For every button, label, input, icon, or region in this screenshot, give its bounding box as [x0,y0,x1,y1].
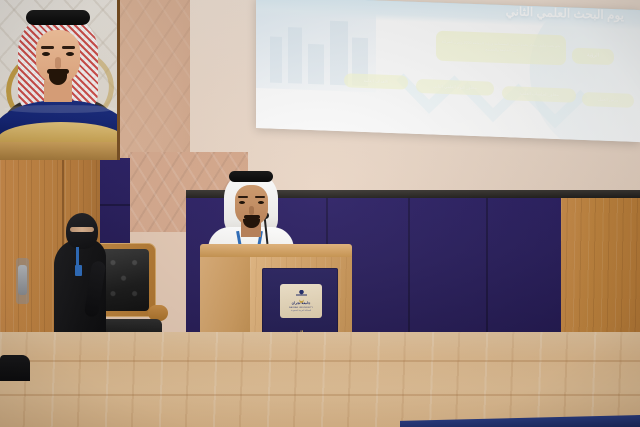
eye [239,201,245,204]
portrait-eye [42,52,50,56]
portrait-nose [55,57,61,69]
slide-surface: يوم البحث العلمي الثاني نحو بحث علمي مبت… [256,0,640,142]
slide-side-callout: الرؤية [572,48,614,66]
podium-lectern-top [200,244,352,257]
portrait-eyebrow [62,46,75,49]
portrait-eyebrow [41,46,54,49]
eyebrow [255,196,265,198]
name-badge [75,265,82,276]
nose [249,206,254,215]
panel-seam [96,204,130,206]
banner-gloss [4,105,116,113]
portrait-base-shelf [0,142,120,160]
floor-reflection [0,332,640,358]
slide-building [288,27,302,84]
logo-subtitle: المملكة العربية السعودية [291,310,311,312]
portrait-iqal [26,10,90,25]
portrait-banner [0,100,120,142]
eyes [70,227,94,232]
najran-university-logo: جامعة نجران NAJRAN UNIVERSITY المملكة ال… [280,284,322,318]
conference-hall-photo: يوم البحث العلمي الثاني نحو بحث علمي مبت… [0,0,640,427]
panel-seam [486,198,488,332]
wood-panel-right [561,198,640,334]
panel-seam [408,198,410,332]
slide-box-3: محاور الجلسات العلمية [502,86,576,103]
face [235,185,268,226]
floor-seam [0,394,640,396]
slide-building [308,44,324,85]
iqal-cord [229,171,273,182]
banner-gold-band [0,122,120,142]
eyebrow [238,196,248,198]
floor-seam [0,360,640,362]
slide-box-2: محاور اليوم العلمي الثاني [416,79,494,96]
official-portrait [0,0,120,160]
wood-grain [561,198,640,334]
eye [258,201,264,204]
slide-box-4: ورش العمل [582,92,634,108]
logo-english-name: NAJRAN UNIVERSITY [289,307,313,309]
door-handle[interactable] [18,265,27,295]
portrait-eye [66,52,74,56]
dark-object-left [0,355,30,381]
portrait-face [36,30,80,84]
slide-building [270,37,282,83]
palm-and-swords-icon [296,290,307,301]
projection-screen: يوم البحث العلمي الثاني نحو بحث علمي مبت… [256,0,640,142]
lanyard [76,247,79,267]
slide-box-1: الأهداف العامة [344,73,408,89]
slide-main-callout: نحو بحث علمي مبتكر يخدم التنمية المستدام… [436,31,566,66]
